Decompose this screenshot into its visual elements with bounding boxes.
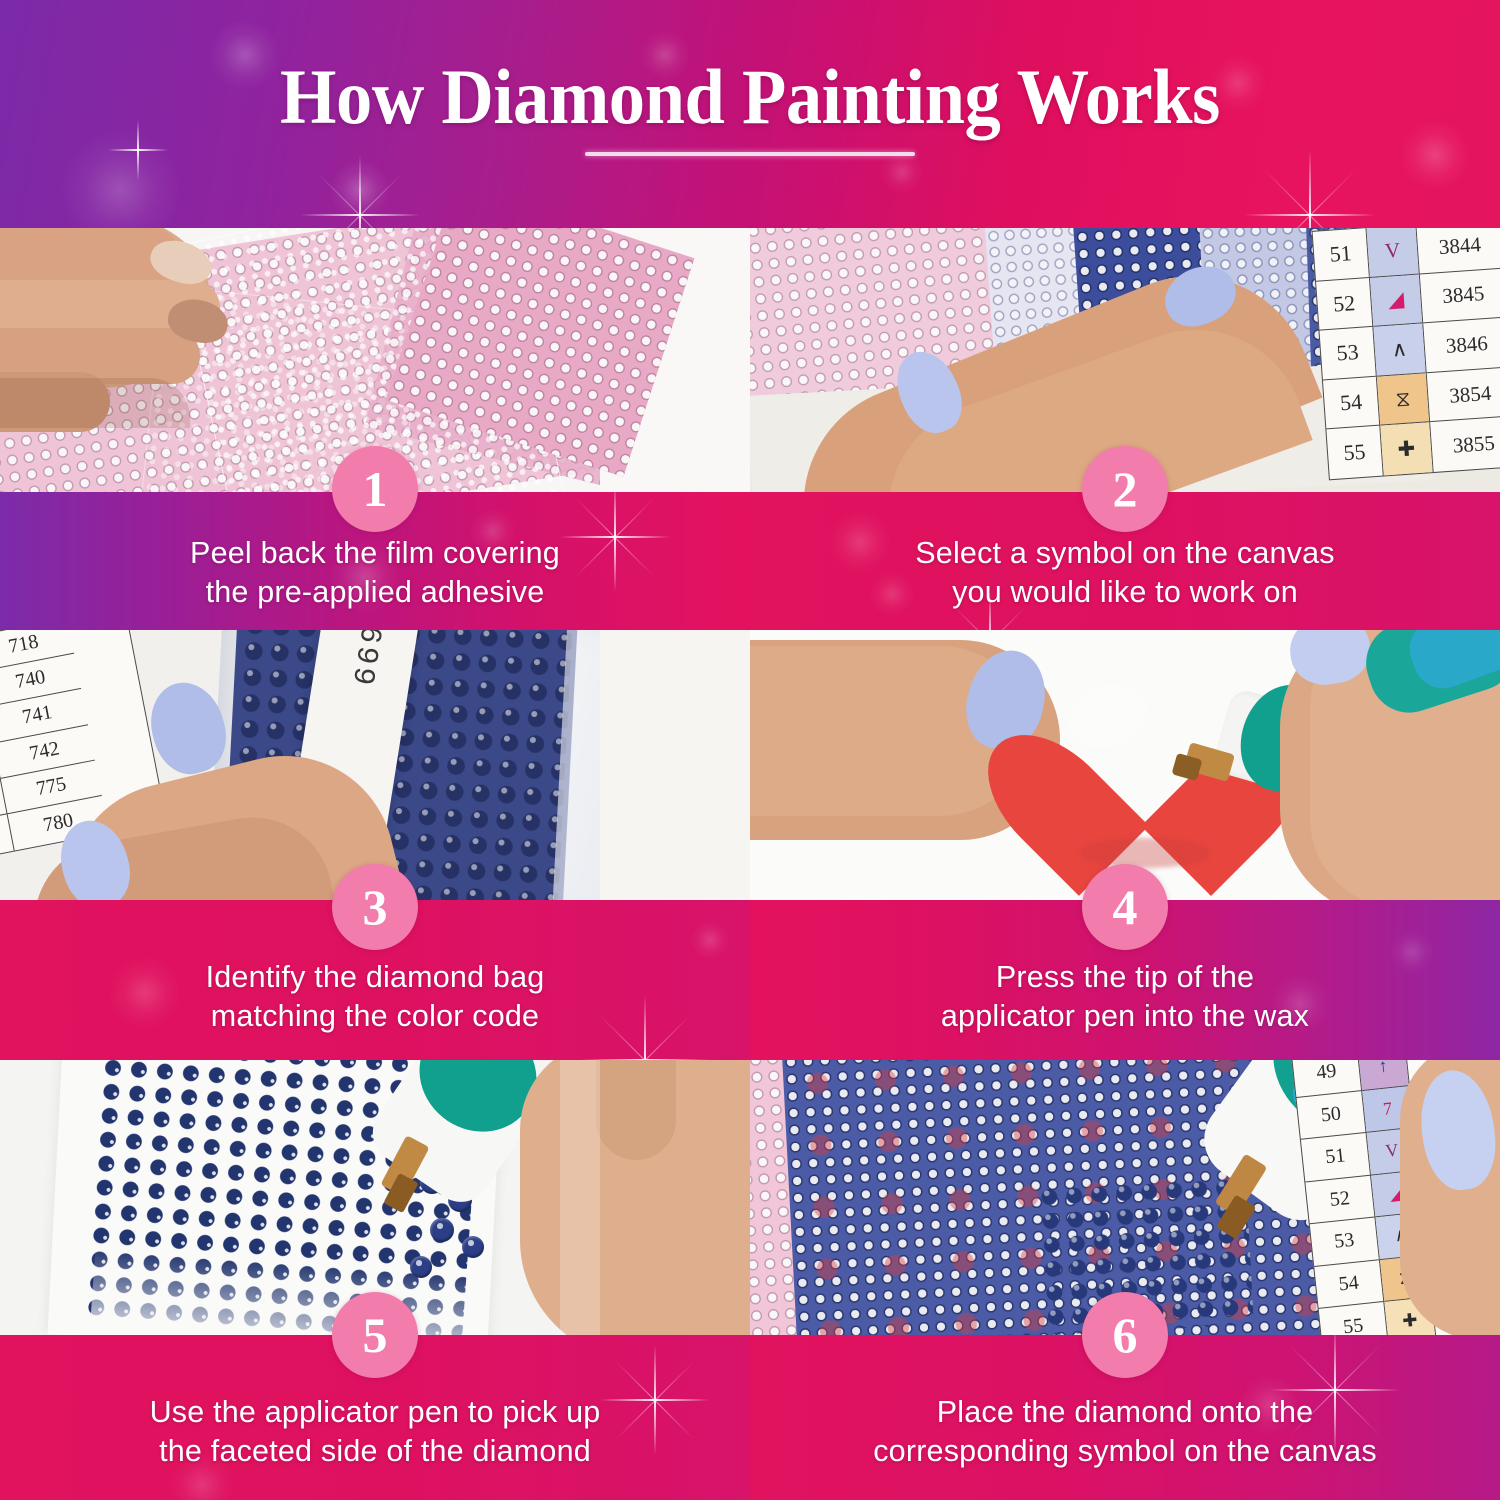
caption-line: you would like to work on xyxy=(750,573,1500,612)
legend-code: 3845 xyxy=(1420,268,1500,323)
sparkle-icon xyxy=(300,155,420,228)
legend-code: 3846 xyxy=(1423,318,1500,373)
caption-line: matching the color code xyxy=(0,997,750,1036)
step-4-photo xyxy=(750,630,1500,900)
legend-symbol: ⧖ xyxy=(1377,373,1429,426)
caption-line: Peel back the film covering xyxy=(0,534,750,573)
caption-line: Place the diamond onto the xyxy=(750,1393,1500,1432)
step-badge-5: 5 xyxy=(332,1292,418,1378)
step-5-caption: Use the applicator pen to pick up the fa… xyxy=(0,1393,750,1471)
legend-index: 51 xyxy=(1313,228,1369,281)
legend-symbol: ✚ xyxy=(1380,423,1432,476)
legend-index: 52 xyxy=(1305,1175,1374,1224)
legend-code: 3844 xyxy=(1416,228,1500,274)
step-3-caption: Identify the diamond bag matching the co… xyxy=(0,958,750,1036)
legend-symbol: ∧ xyxy=(1373,324,1425,377)
caption-line: the faceted side of the diamond xyxy=(0,1432,750,1471)
chart-code-column: 718 740 741 742 775 780 xyxy=(0,630,109,851)
legend-index: 52 xyxy=(1316,278,1372,331)
sparkle-icon xyxy=(1245,150,1375,228)
bag-label-code: 699 xyxy=(342,630,389,700)
step-badge-1: 1 xyxy=(332,446,418,532)
header-banner: How Diamond Painting Works xyxy=(0,0,1500,228)
caption-line: applicator pen into the wax xyxy=(750,997,1500,1036)
step-badge-3: 3 xyxy=(332,864,418,950)
step-badge-2: 2 xyxy=(1082,446,1168,532)
title-underline xyxy=(585,152,915,156)
caption-line: the pre-applied adhesive xyxy=(0,573,750,612)
infographic-poster: How Diamond Painting Works xyxy=(0,0,1500,1500)
page-title: How Diamond Painting Works xyxy=(53,52,1448,142)
caption-line: corresponding symbol on the canvas xyxy=(750,1432,1500,1471)
legend-index: 54 xyxy=(1323,377,1379,430)
step-2-caption: Select a symbol on the canvas you would … xyxy=(750,534,1500,612)
step-3-photo: ◆ ♦ ➤ 718 740 741 742 775 780 xyxy=(0,630,750,900)
legend-index: 54 xyxy=(1314,1260,1383,1309)
caption-line: Use the applicator pen to pick up xyxy=(0,1393,750,1432)
caption-line: Press the tip of the xyxy=(750,958,1500,997)
caption-line: Select a symbol on the canvas xyxy=(750,534,1500,573)
legend-index: 53 xyxy=(1319,327,1375,380)
legend-index: 55 xyxy=(1319,1302,1388,1335)
legend-code: 3854 xyxy=(1427,367,1500,422)
legend-index: 55 xyxy=(1326,426,1382,479)
legend-index: 51 xyxy=(1301,1133,1370,1182)
step-6-caption: Place the diamond onto the corresponding… xyxy=(750,1393,1500,1471)
step-badge-6: 6 xyxy=(1082,1292,1168,1378)
legend-symbol: V xyxy=(1366,228,1418,278)
color-legend-table: 51 52 53 54 55 V ◢ ∧ ⧖ ✚ 3844 xyxy=(1312,228,1500,480)
caption-line: Identify the diamond bag xyxy=(0,958,750,997)
step-1-caption: Peel back the film covering the pre-appl… xyxy=(0,534,750,612)
step-badge-4: 4 xyxy=(1082,864,1168,950)
legend-index: 50 xyxy=(1296,1091,1365,1140)
legend-symbol: ◢ xyxy=(1370,274,1422,327)
legend-code: 3855 xyxy=(1430,417,1500,472)
legend-index: 53 xyxy=(1310,1218,1379,1267)
step-4-caption: Press the tip of the applicator pen into… xyxy=(750,958,1500,1036)
